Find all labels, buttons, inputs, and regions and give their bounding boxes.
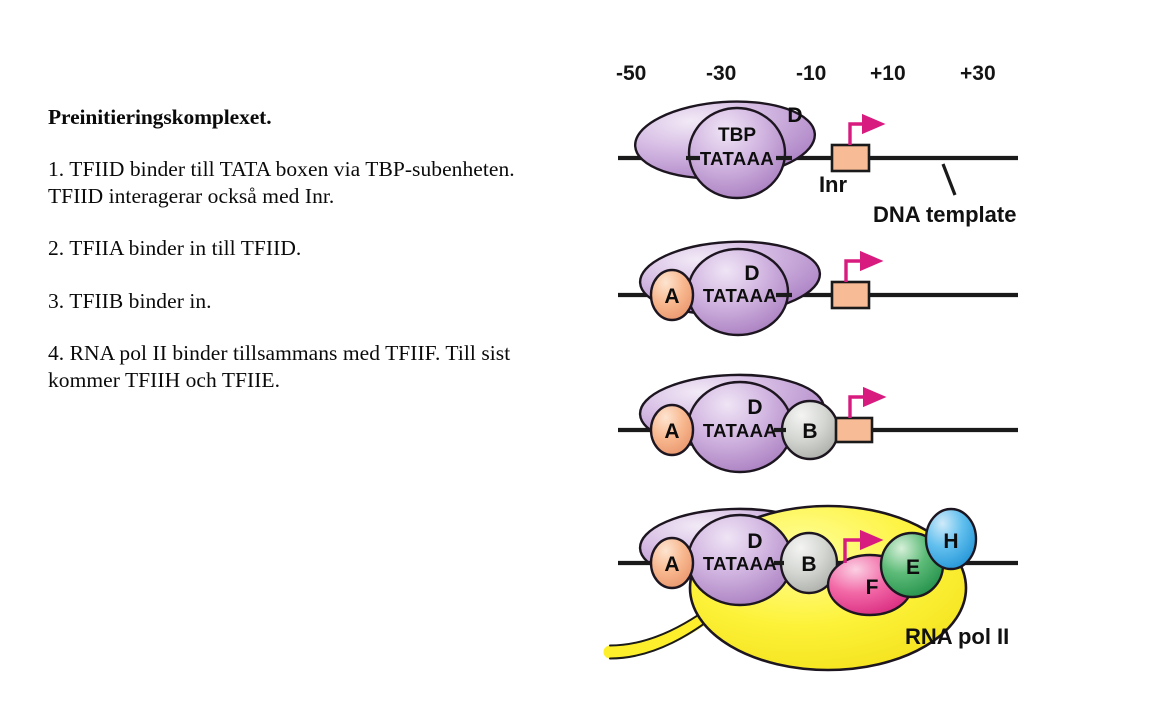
callout-rna-pol-ii: RNA pol II [905,624,1009,649]
label-tfiif-f: F [866,576,879,599]
label-tfiib-b: B [802,420,817,443]
label-tfiib-b: B [801,553,816,576]
label-tfiia-a: A [664,553,679,576]
callout-dna-template: DNA template [873,202,1016,227]
text-column: Preinitieringskomplexet. 1. TFIID binder… [48,104,548,393]
panel-1-tfiid: D TBP TATAAA Inr DNA template [618,96,1018,227]
spacer [48,262,548,288]
transcription-start-arrow [846,261,870,282]
inr-box [832,145,869,171]
scale-tick-+10: +10 [870,62,906,85]
transcription-start-arrow [850,397,873,418]
label-tata-box: TATAAA [703,420,777,441]
label-tfiid-d: D [747,530,762,553]
label-tata-box: TATAAA [703,553,777,574]
callout-inr: Inr [819,172,848,197]
position-scale: -50 -30 -10 +10 +30 [616,62,996,85]
label-tfiie-e: E [906,556,920,579]
label-tfiid-d: D [744,262,759,285]
transcription-start-arrow [850,124,872,145]
label-tfiid-d: D [787,104,802,127]
label-tata-box: TATAAA [700,148,774,169]
dna-template-leader [943,164,955,195]
preinitiation-complex-diagram: -50 -30 -10 +10 +30 D TBP [580,40,1140,690]
spacer [48,314,548,340]
scale-tick--50: -50 [616,62,646,85]
page-title: Preinitieringskomplexet. [48,104,548,130]
label-tfiia-a: A [664,420,679,443]
label-tfiia-a: A [664,285,679,308]
spacer [48,130,548,156]
scale-tick--30: -30 [706,62,736,85]
step-1-text: 1. TFIID binder till TATA boxen via TBP-… [48,156,548,209]
panel-4-holoenzyme: D TATAAA A B F E H RNA pol II [610,506,1018,670]
inr-box [832,282,869,308]
spacer [48,209,548,235]
label-tfiih-h: H [943,530,958,553]
step-3-text: 3. TFIIB binder in. [48,288,548,315]
step-4-text: 4. RNA pol II binder tillsammans med TFI… [48,340,548,393]
label-tbp: TBP [718,125,756,146]
scale-tick-+30: +30 [960,62,996,85]
slide-canvas: Preinitieringskomplexet. 1. TFIID binder… [0,0,1154,724]
panel-2-tfiia: D TATAAA A [618,237,1018,335]
label-tata-box: TATAAA [703,285,777,306]
inr-box [836,418,872,442]
scale-tick--10: -10 [796,62,826,85]
panel-3-tfiib: D TATAAA A B [618,372,1018,472]
step-2-text: 2. TFIIA binder in till TFIID. [48,235,548,262]
label-tfiid-d: D [747,396,762,419]
